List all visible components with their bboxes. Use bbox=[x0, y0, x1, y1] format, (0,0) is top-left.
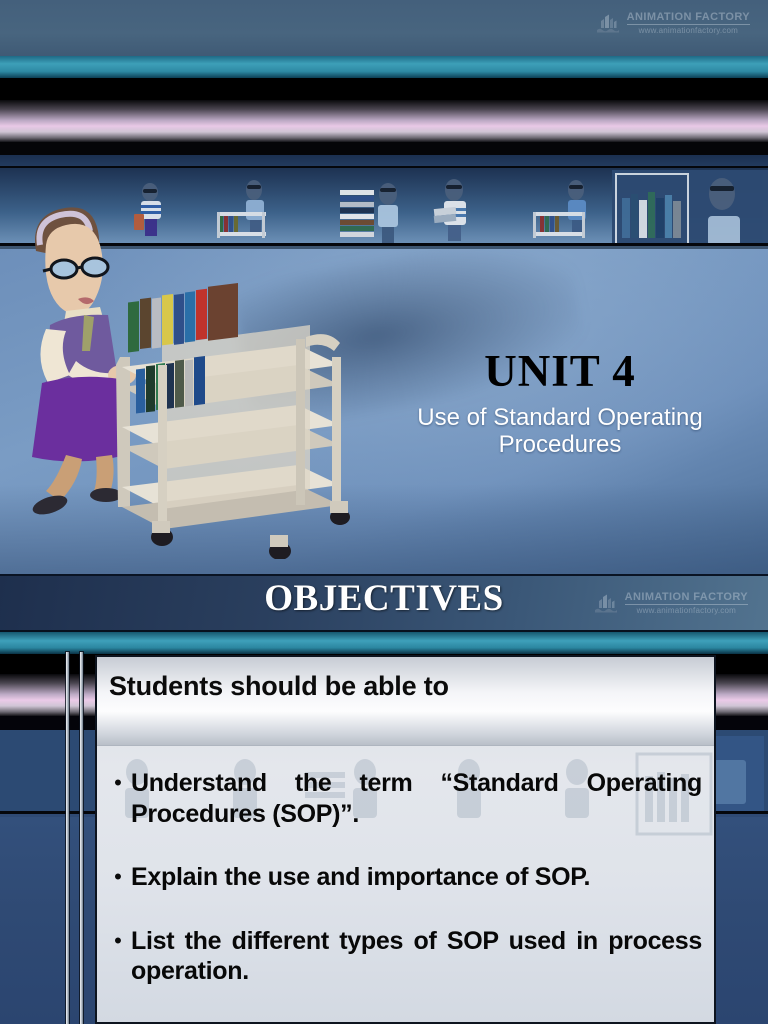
presentation-deck: ANIMATION FACTORY www.animationfactory.c… bbox=[0, 0, 768, 1024]
page-title: UNIT 4 bbox=[370, 349, 750, 394]
black-stripe-band bbox=[0, 78, 768, 100]
title-block: UNIT 4 Use of Standard Operating Procedu… bbox=[370, 349, 750, 459]
watermark-name: ANIMATION FACTORY bbox=[625, 592, 748, 605]
book-cart bbox=[116, 283, 350, 559]
bullet-text: List the different types of SOP used in … bbox=[131, 926, 702, 987]
pink-gradient-band bbox=[0, 100, 768, 142]
navy-stripe-band bbox=[0, 155, 768, 166]
factory-logo-icon bbox=[596, 13, 622, 35]
bullet-marker-icon: • bbox=[105, 926, 131, 955]
list-item: • List the different types of SOP used i… bbox=[105, 926, 702, 987]
page-subtitle: Use of Standard Operating Procedures bbox=[370, 405, 750, 459]
bullet-text: Understand the term “Standard Operating … bbox=[131, 768, 702, 829]
bullet-marker-icon: • bbox=[105, 862, 131, 891]
factory-logo-icon bbox=[594, 593, 620, 615]
black-stripe-band-2 bbox=[0, 142, 768, 155]
accent-line-1 bbox=[66, 652, 69, 1024]
watermark-text: ANIMATION FACTORY www.animationfactory.c… bbox=[627, 12, 750, 35]
watermark-url: www.animationfactory.com bbox=[625, 607, 748, 615]
animation-factory-watermark: ANIMATION FACTORY www.animationfactory.c… bbox=[596, 12, 750, 35]
watermark-name: ANIMATION FACTORY bbox=[627, 12, 750, 25]
objectives-bullet-list: • Understand the term “Standard Operatin… bbox=[97, 746, 714, 987]
librarian-with-book-cart-illustration bbox=[10, 189, 360, 559]
bullet-marker-icon: • bbox=[105, 768, 131, 797]
list-item: • Explain the use and importance of SOP. bbox=[105, 862, 702, 893]
card-heading: Students should be able to bbox=[109, 671, 449, 702]
title-slide: ANIMATION FACTORY www.animationfactory.c… bbox=[0, 0, 768, 574]
animation-factory-watermark-banner: ANIMATION FACTORY www.animationfactory.c… bbox=[594, 592, 748, 615]
teal-stripe-band bbox=[0, 56, 768, 78]
watermark-text: ANIMATION FACTORY www.animationfactory.c… bbox=[625, 592, 748, 615]
watermark-url: www.animationfactory.com bbox=[627, 27, 750, 35]
bullet-text: Explain the use and importance of SOP. bbox=[131, 862, 702, 893]
accent-line-2 bbox=[80, 652, 83, 1024]
title-stage: UNIT 4 Use of Standard Operating Procedu… bbox=[0, 249, 768, 574]
card-header: Students should be able to bbox=[97, 657, 714, 746]
teal-stripe-band-2 bbox=[0, 632, 768, 654]
list-item: • Understand the term “Standard Operatin… bbox=[105, 768, 702, 829]
objectives-content-card: Students should be able to bbox=[95, 655, 716, 1024]
